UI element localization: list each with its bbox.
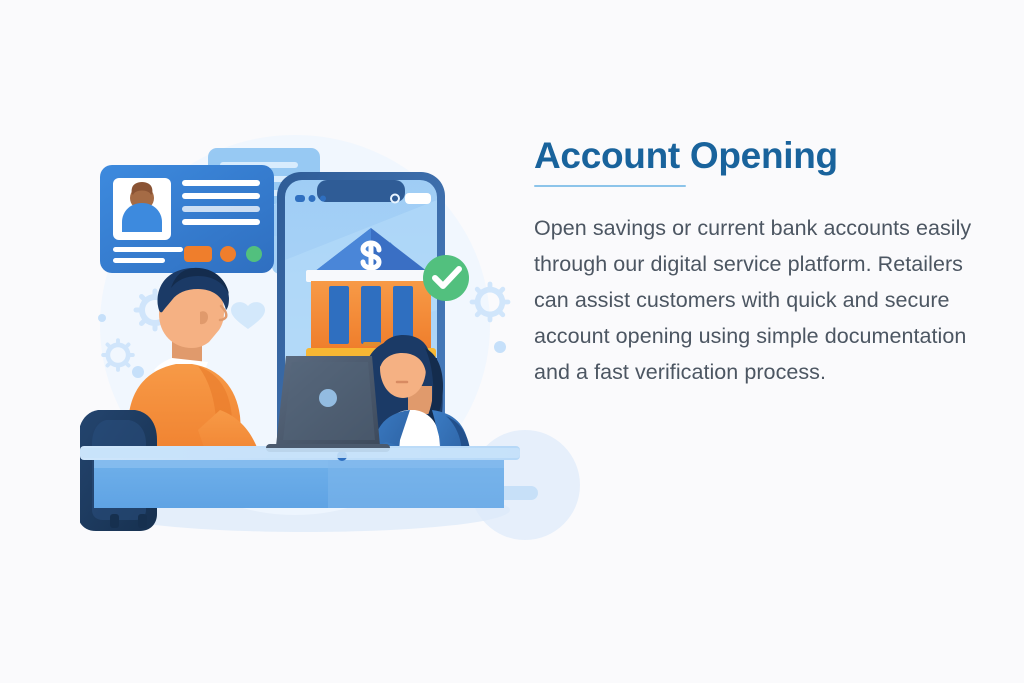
id-dot-orange xyxy=(220,246,236,262)
text-panel: Account Opening Open savings or current … xyxy=(534,135,974,391)
bank-account-opening-illustration xyxy=(80,110,520,570)
page-root: Account Opening Open savings or current … xyxy=(0,0,1024,683)
page-title: Account Opening xyxy=(534,135,974,176)
dollar-sign-icon xyxy=(363,242,379,268)
laptop xyxy=(266,356,390,452)
page-description: Open savings or current bank accounts ea… xyxy=(534,211,974,390)
verified-badge xyxy=(423,255,469,301)
title-underline xyxy=(534,185,686,187)
id-card xyxy=(100,165,274,273)
laptop-logo xyxy=(319,389,337,407)
bank-column xyxy=(361,286,381,344)
bank-column xyxy=(329,286,349,344)
id-chip-orange xyxy=(184,246,212,262)
id-dot-green xyxy=(246,246,262,262)
